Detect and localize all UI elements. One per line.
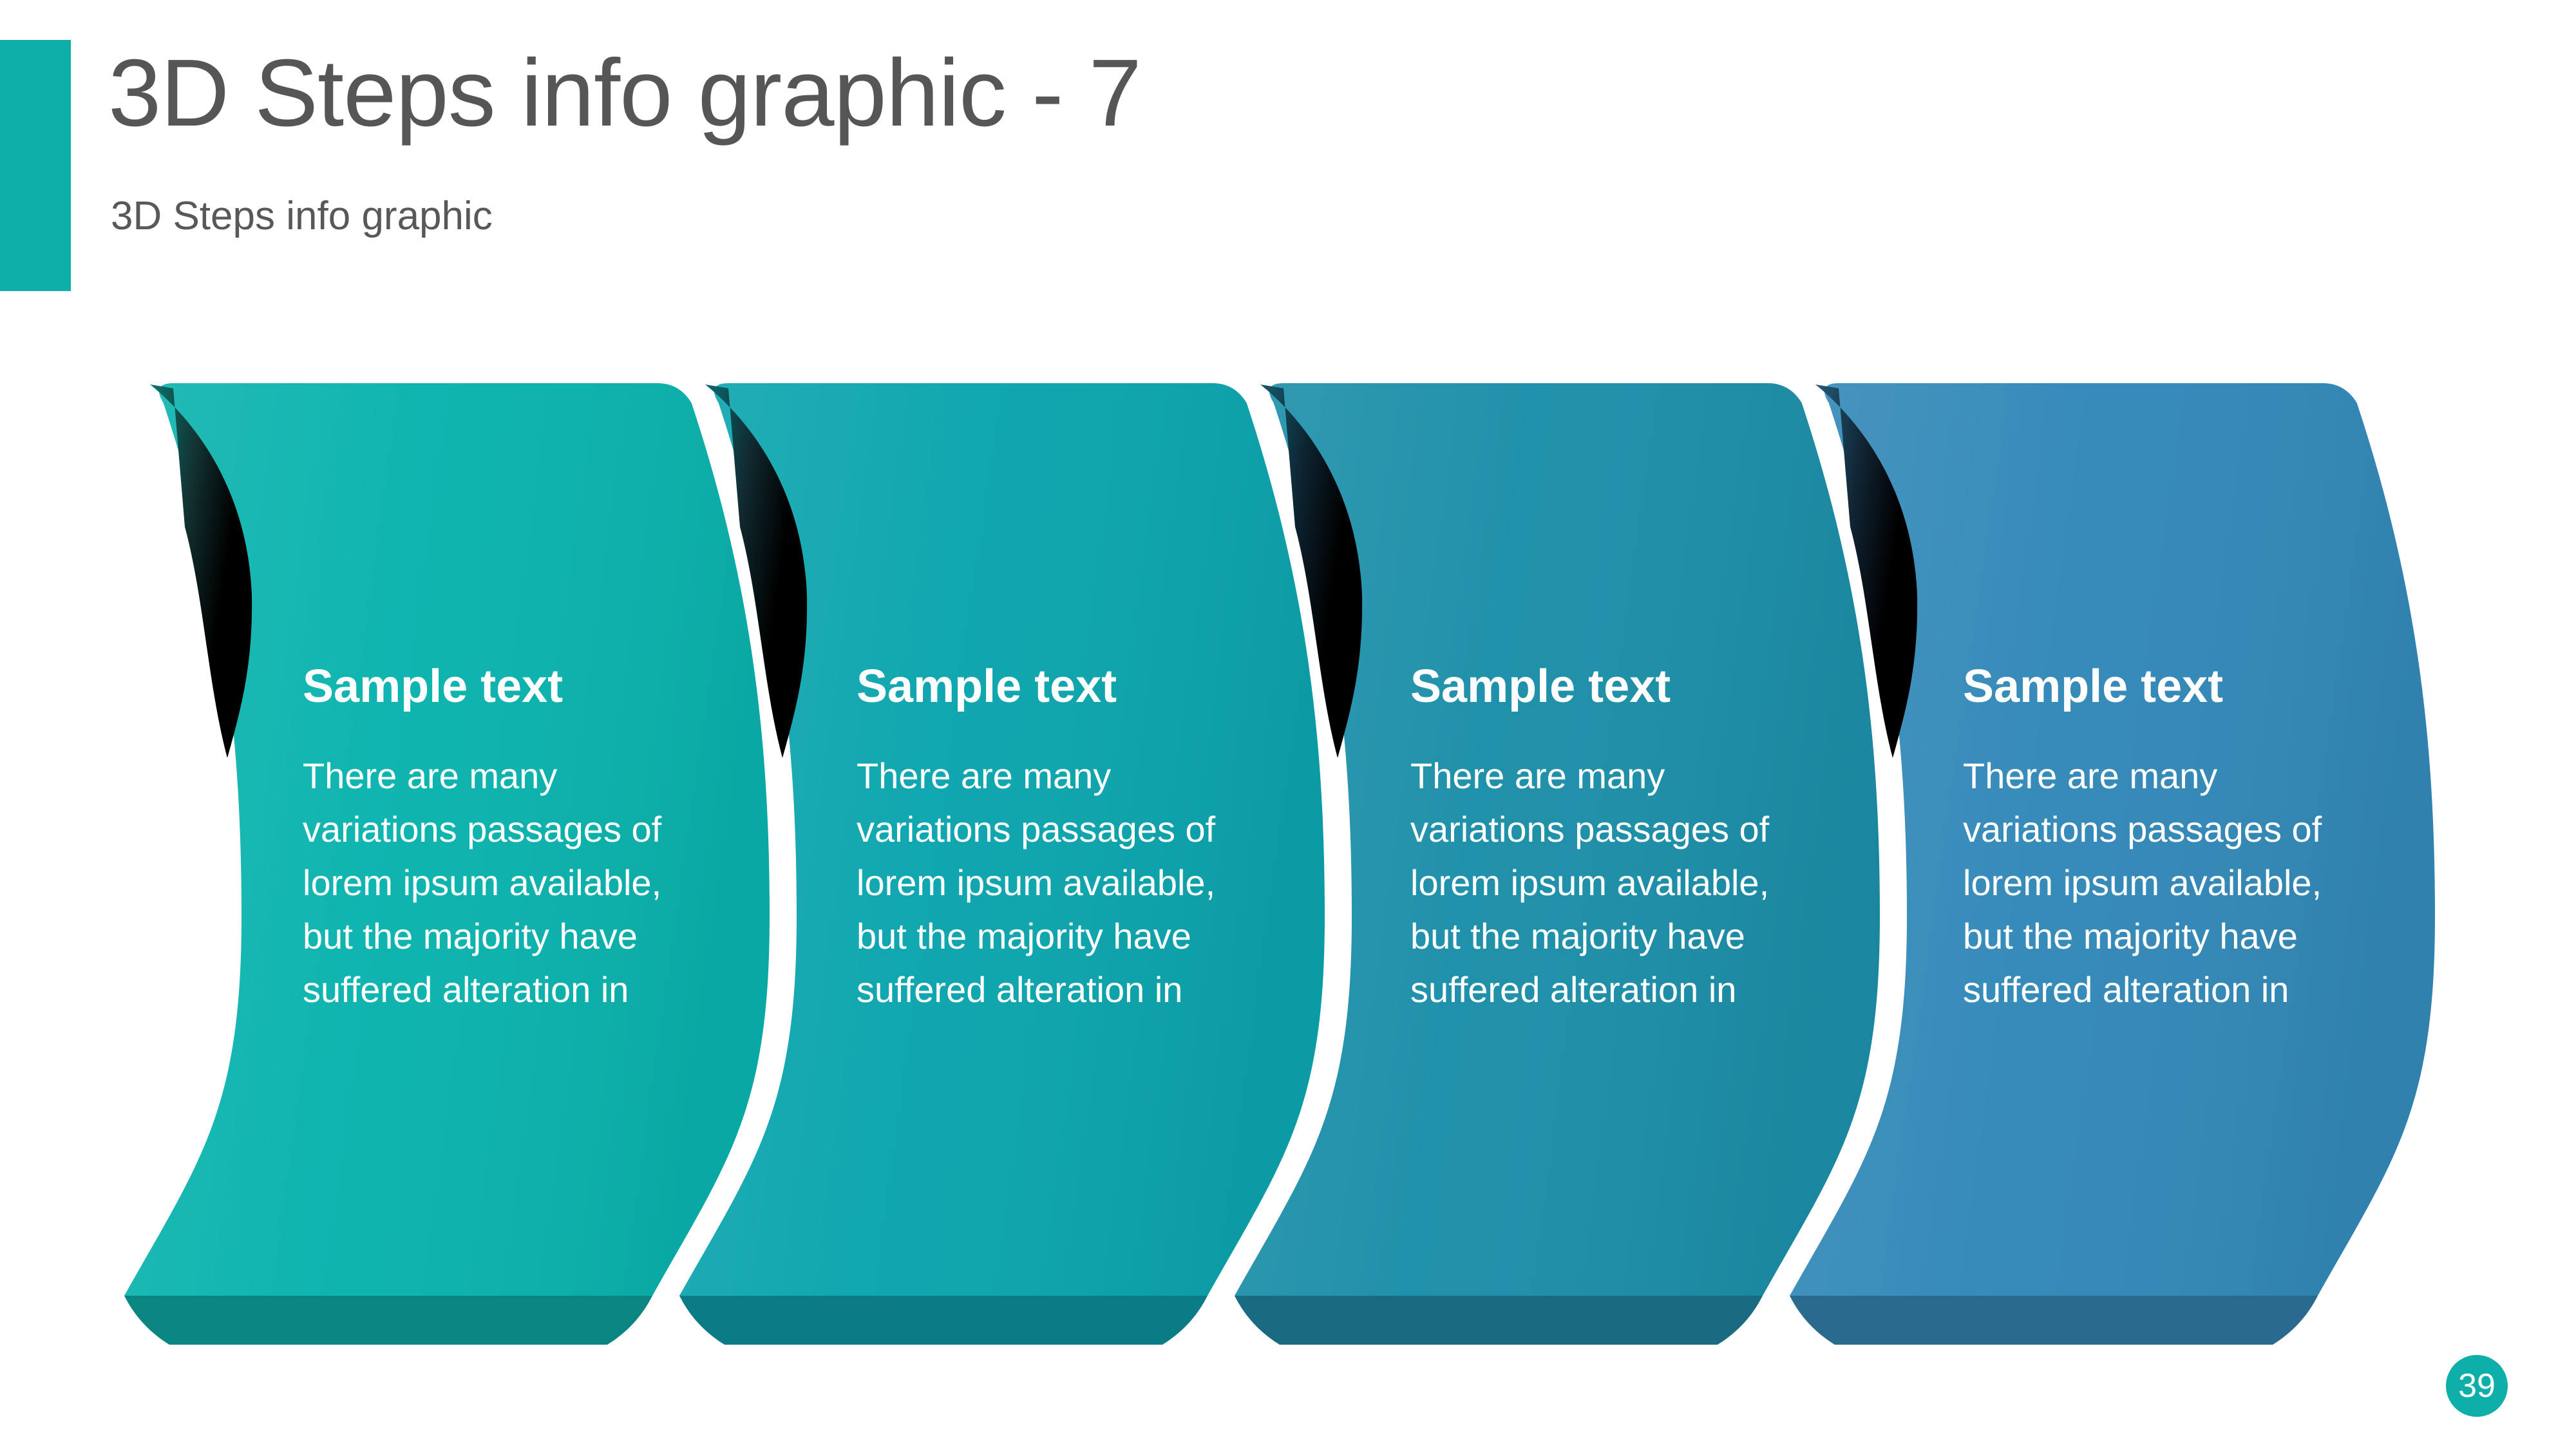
step-text-4: Sample text There are many variations pa… (1963, 663, 2375, 1016)
step-heading-3: Sample text (1410, 663, 1823, 710)
step-base-3 (1235, 1296, 1763, 1345)
step-body-1: There are many variations passages of lo… (303, 750, 699, 1016)
step-heading-1: Sample text (303, 663, 715, 710)
step-text-1: Sample text There are many variations pa… (303, 663, 715, 1016)
step-base-4 (1790, 1296, 2318, 1345)
slide-canvas: 3D Steps info graphic - 7 3D Steps info … (0, 0, 2576, 1449)
step-text-2: Sample text There are many variations pa… (857, 663, 1269, 1016)
page-number-badge: 39 (2446, 1355, 2508, 1417)
step-base-1 (124, 1296, 652, 1345)
steps-infographic: Sample text There are many variations pa… (0, 0, 2576, 1449)
step-body-2: There are many variations passages of lo… (857, 750, 1253, 1016)
step-body-3: There are many variations passages of lo… (1410, 750, 1806, 1016)
step-text-3: Sample text There are many variations pa… (1410, 663, 1823, 1016)
step-body-4: There are many variations passages of lo… (1963, 750, 2359, 1016)
step-heading-4: Sample text (1963, 663, 2375, 710)
step-base-2 (679, 1296, 1207, 1345)
step-heading-2: Sample text (857, 663, 1269, 710)
